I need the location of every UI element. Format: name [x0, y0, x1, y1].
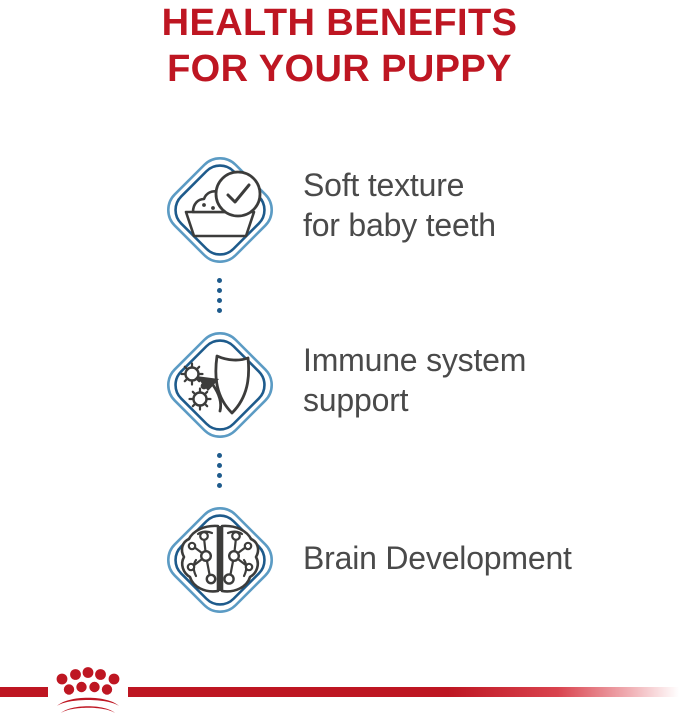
dotted-connector-icon: [0, 445, 679, 500]
connector-2: [0, 445, 679, 500]
royal-canin-crown-logo: [46, 662, 130, 714]
brain-neurons-icon: [160, 500, 280, 620]
benefit-label-soft-texture: Soft texture for baby teeth: [303, 165, 679, 245]
benefit-label-immune-system: Immune system support: [303, 340, 679, 420]
benefit-label-line-1: Brain Development: [303, 538, 679, 578]
benefits-list: Soft texture for baby teeth: [0, 150, 679, 620]
footer: [0, 640, 679, 714]
benefit-label-line-2: for baby teeth: [303, 205, 679, 245]
benefit-item-brain-development: Brain Development: [0, 500, 679, 620]
shield-germs-icon: [160, 325, 280, 445]
benefit-item-soft-texture: Soft texture for baby teeth: [0, 150, 679, 270]
footer-rule-right: [128, 687, 679, 697]
food-bowl-check-icon: [160, 150, 280, 270]
benefit-item-immune-system: Immune system support: [0, 325, 679, 445]
page-title-line-1: HEALTH BENEFITS: [0, 0, 679, 46]
benefit-label-line-1: Soft texture: [303, 165, 679, 205]
page-title-line-2: FOR YOUR PUPPY: [0, 46, 679, 92]
benefit-label-brain-development: Brain Development: [303, 538, 679, 578]
page-title: HEALTH BENEFITS FOR YOUR PUPPY: [0, 0, 679, 92]
footer-rule-left: [0, 687, 48, 697]
connector-1: [0, 270, 679, 325]
benefit-label-line-2: support: [303, 380, 679, 420]
dotted-connector-icon: [0, 270, 679, 325]
benefit-label-line-1: Immune system: [303, 340, 679, 380]
